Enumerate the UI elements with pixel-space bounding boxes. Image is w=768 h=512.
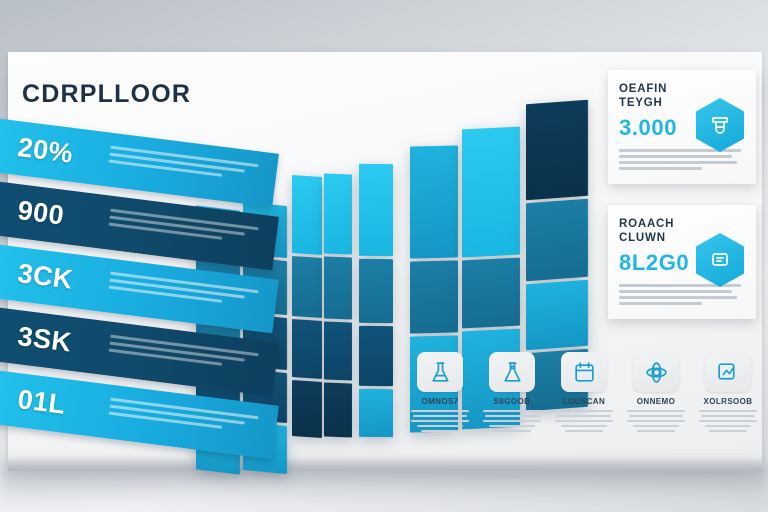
icon-tile[interactable]: LOUSCAN xyxy=(552,352,616,435)
panel-cell xyxy=(462,127,520,258)
icon-tile-text-lines xyxy=(408,410,472,432)
icon-tile[interactable]: OMNOS7 xyxy=(408,352,472,435)
stat-banner-value: 01L xyxy=(16,384,68,421)
panel-cell xyxy=(526,100,588,201)
icon-tile-label: XOLRSOOB xyxy=(696,397,760,406)
icon-tile-text-lines xyxy=(696,410,760,432)
flask-hex-icon xyxy=(696,98,744,152)
icon-tile[interactable]: S8GOOB xyxy=(480,352,544,435)
icon-tile-label: OMNOS7 xyxy=(408,397,472,406)
info-card-body-lines xyxy=(619,284,745,305)
floor-shadow xyxy=(0,462,768,512)
beaker-icon xyxy=(489,352,535,392)
panel-cell xyxy=(462,258,520,329)
panel-cell xyxy=(526,199,588,282)
icon-tile-label: S8GOOB xyxy=(480,397,544,406)
panel-cell xyxy=(526,280,588,351)
icon-tile-row: OMNOS7S8GOOBLOUSCANONNEMOXOLRSOOB xyxy=(408,352,760,435)
icon-tile-text-lines xyxy=(624,410,688,432)
info-card-0[interactable]: OEAFIN TEYGH 3.000 xyxy=(608,70,756,184)
icon-tile[interactable]: ONNEMO xyxy=(624,352,688,435)
stat-banner-value: 3SK xyxy=(16,321,73,359)
icon-tile[interactable]: XOLRSOOB xyxy=(696,352,760,435)
info-card-heading: ROAACH CLUWN xyxy=(619,217,703,245)
icon-tile-text-lines xyxy=(552,410,616,432)
page-title: CDRPLLOOR xyxy=(22,80,191,109)
chart-icon xyxy=(705,352,751,392)
poster-stage: CDRPLLOOR 20%9003CK3SK01L OEAFIN TEYGH 3… xyxy=(0,0,768,512)
info-card-1[interactable]: ROAACH CLUWN 8L2G0 xyxy=(608,205,756,319)
icon-tile-label: ONNEMO xyxy=(624,397,688,406)
info-card-heading: OEAFIN TEYGH xyxy=(619,82,703,110)
icon-tile-label: LOUSCAN xyxy=(552,397,616,406)
gear-hex-icon xyxy=(696,233,744,287)
info-card-body-lines xyxy=(619,149,745,170)
atom-icon xyxy=(633,352,679,392)
calendar-icon xyxy=(561,352,607,392)
icon-tile-text-lines xyxy=(480,410,544,432)
flask-icon xyxy=(417,352,463,392)
stat-banner-list: 20%9003CK3SK01L xyxy=(0,116,430,426)
stat-banner-value: 900 xyxy=(16,195,66,232)
